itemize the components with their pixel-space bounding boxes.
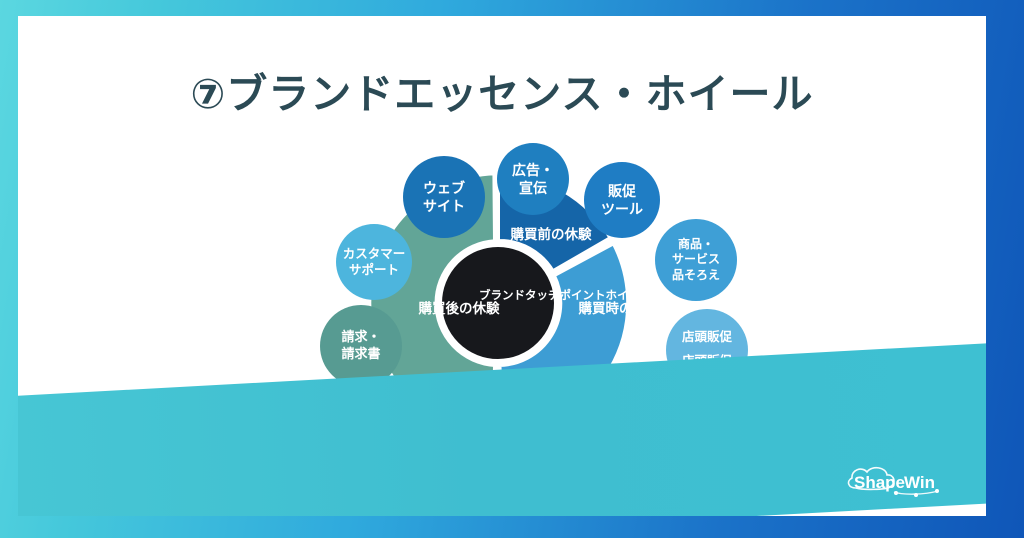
touchpoint-advertising-line-1: 広告・ bbox=[512, 161, 554, 179]
slide-card: ⑦ブランドエッセンス・ホイール 購買前の休験 購買時の休験 購買後の休験 ブラン… bbox=[18, 16, 986, 516]
touchpoint-invoice-line-2: 請求書 bbox=[341, 346, 380, 363]
touchpoint-website-line-2: サイト bbox=[423, 197, 465, 215]
touchpoint-invoice-line-1: 請求・ bbox=[341, 329, 380, 346]
wheel-hub bbox=[440, 245, 556, 361]
touchpoint-product-service-line-1: 商品・ bbox=[672, 237, 720, 253]
touchpoint-bubble-product-service[interactable]: 商品・サービス品そろえ bbox=[655, 219, 737, 301]
touchpoint-advertising-line-2: 宣伝 bbox=[512, 179, 554, 197]
touchpoint-bubble-label: 商品・サービス品そろえ bbox=[672, 237, 720, 284]
touchpoint-bubble-website[interactable]: ウェブサイト bbox=[403, 156, 485, 238]
shapewin-logo-mark: Shape Win bbox=[842, 462, 960, 504]
slide-canvas: ⑦ブランドエッセンス・ホイール 購買前の休験 購買時の休験 購買後の休験 ブラン… bbox=[0, 0, 1024, 538]
touchpoint-customer-support-line-1: カスタマー bbox=[343, 246, 406, 262]
touchpoint-product-service-line-2: サービス bbox=[672, 252, 720, 268]
touchpoint-bubble-label: 販促ツール bbox=[601, 182, 643, 218]
touchpoint-bubble-customer-support[interactable]: カスタマーサポート bbox=[336, 224, 412, 300]
touchpoint-website-line-1: ウェブ bbox=[423, 179, 465, 197]
touchpoint-bubble-label: 広告・宣伝 bbox=[512, 161, 554, 197]
touchpoint-customer-support-line-2: サポート bbox=[343, 262, 406, 278]
touchpoint-bubble-advertising[interactable]: 広告・宣伝 bbox=[497, 143, 569, 215]
logo-text-shape: Shape bbox=[854, 473, 905, 492]
touchpoint-in-store-promo-line-1: 店頭販促 bbox=[682, 326, 732, 350]
touchpoint-bubble-label: カスタマーサポート bbox=[343, 246, 406, 279]
touchpoint-bubble-label: ウェブサイト bbox=[423, 179, 465, 215]
touchpoint-product-service-line-3: 品そろえ bbox=[672, 268, 720, 284]
touchpoint-sales-promo-tool-line-2: ツール bbox=[601, 200, 643, 218]
touchpoint-bubble-sales-promo-tool[interactable]: 販促ツール bbox=[584, 162, 660, 238]
touchpoint-bubble-label: 請求・請求書 bbox=[341, 329, 380, 363]
touchpoint-sales-promo-tool-line-1: 販促 bbox=[601, 182, 643, 200]
shapewin-logo: Shape Win bbox=[842, 462, 960, 504]
logo-text-win: Win bbox=[904, 473, 935, 492]
